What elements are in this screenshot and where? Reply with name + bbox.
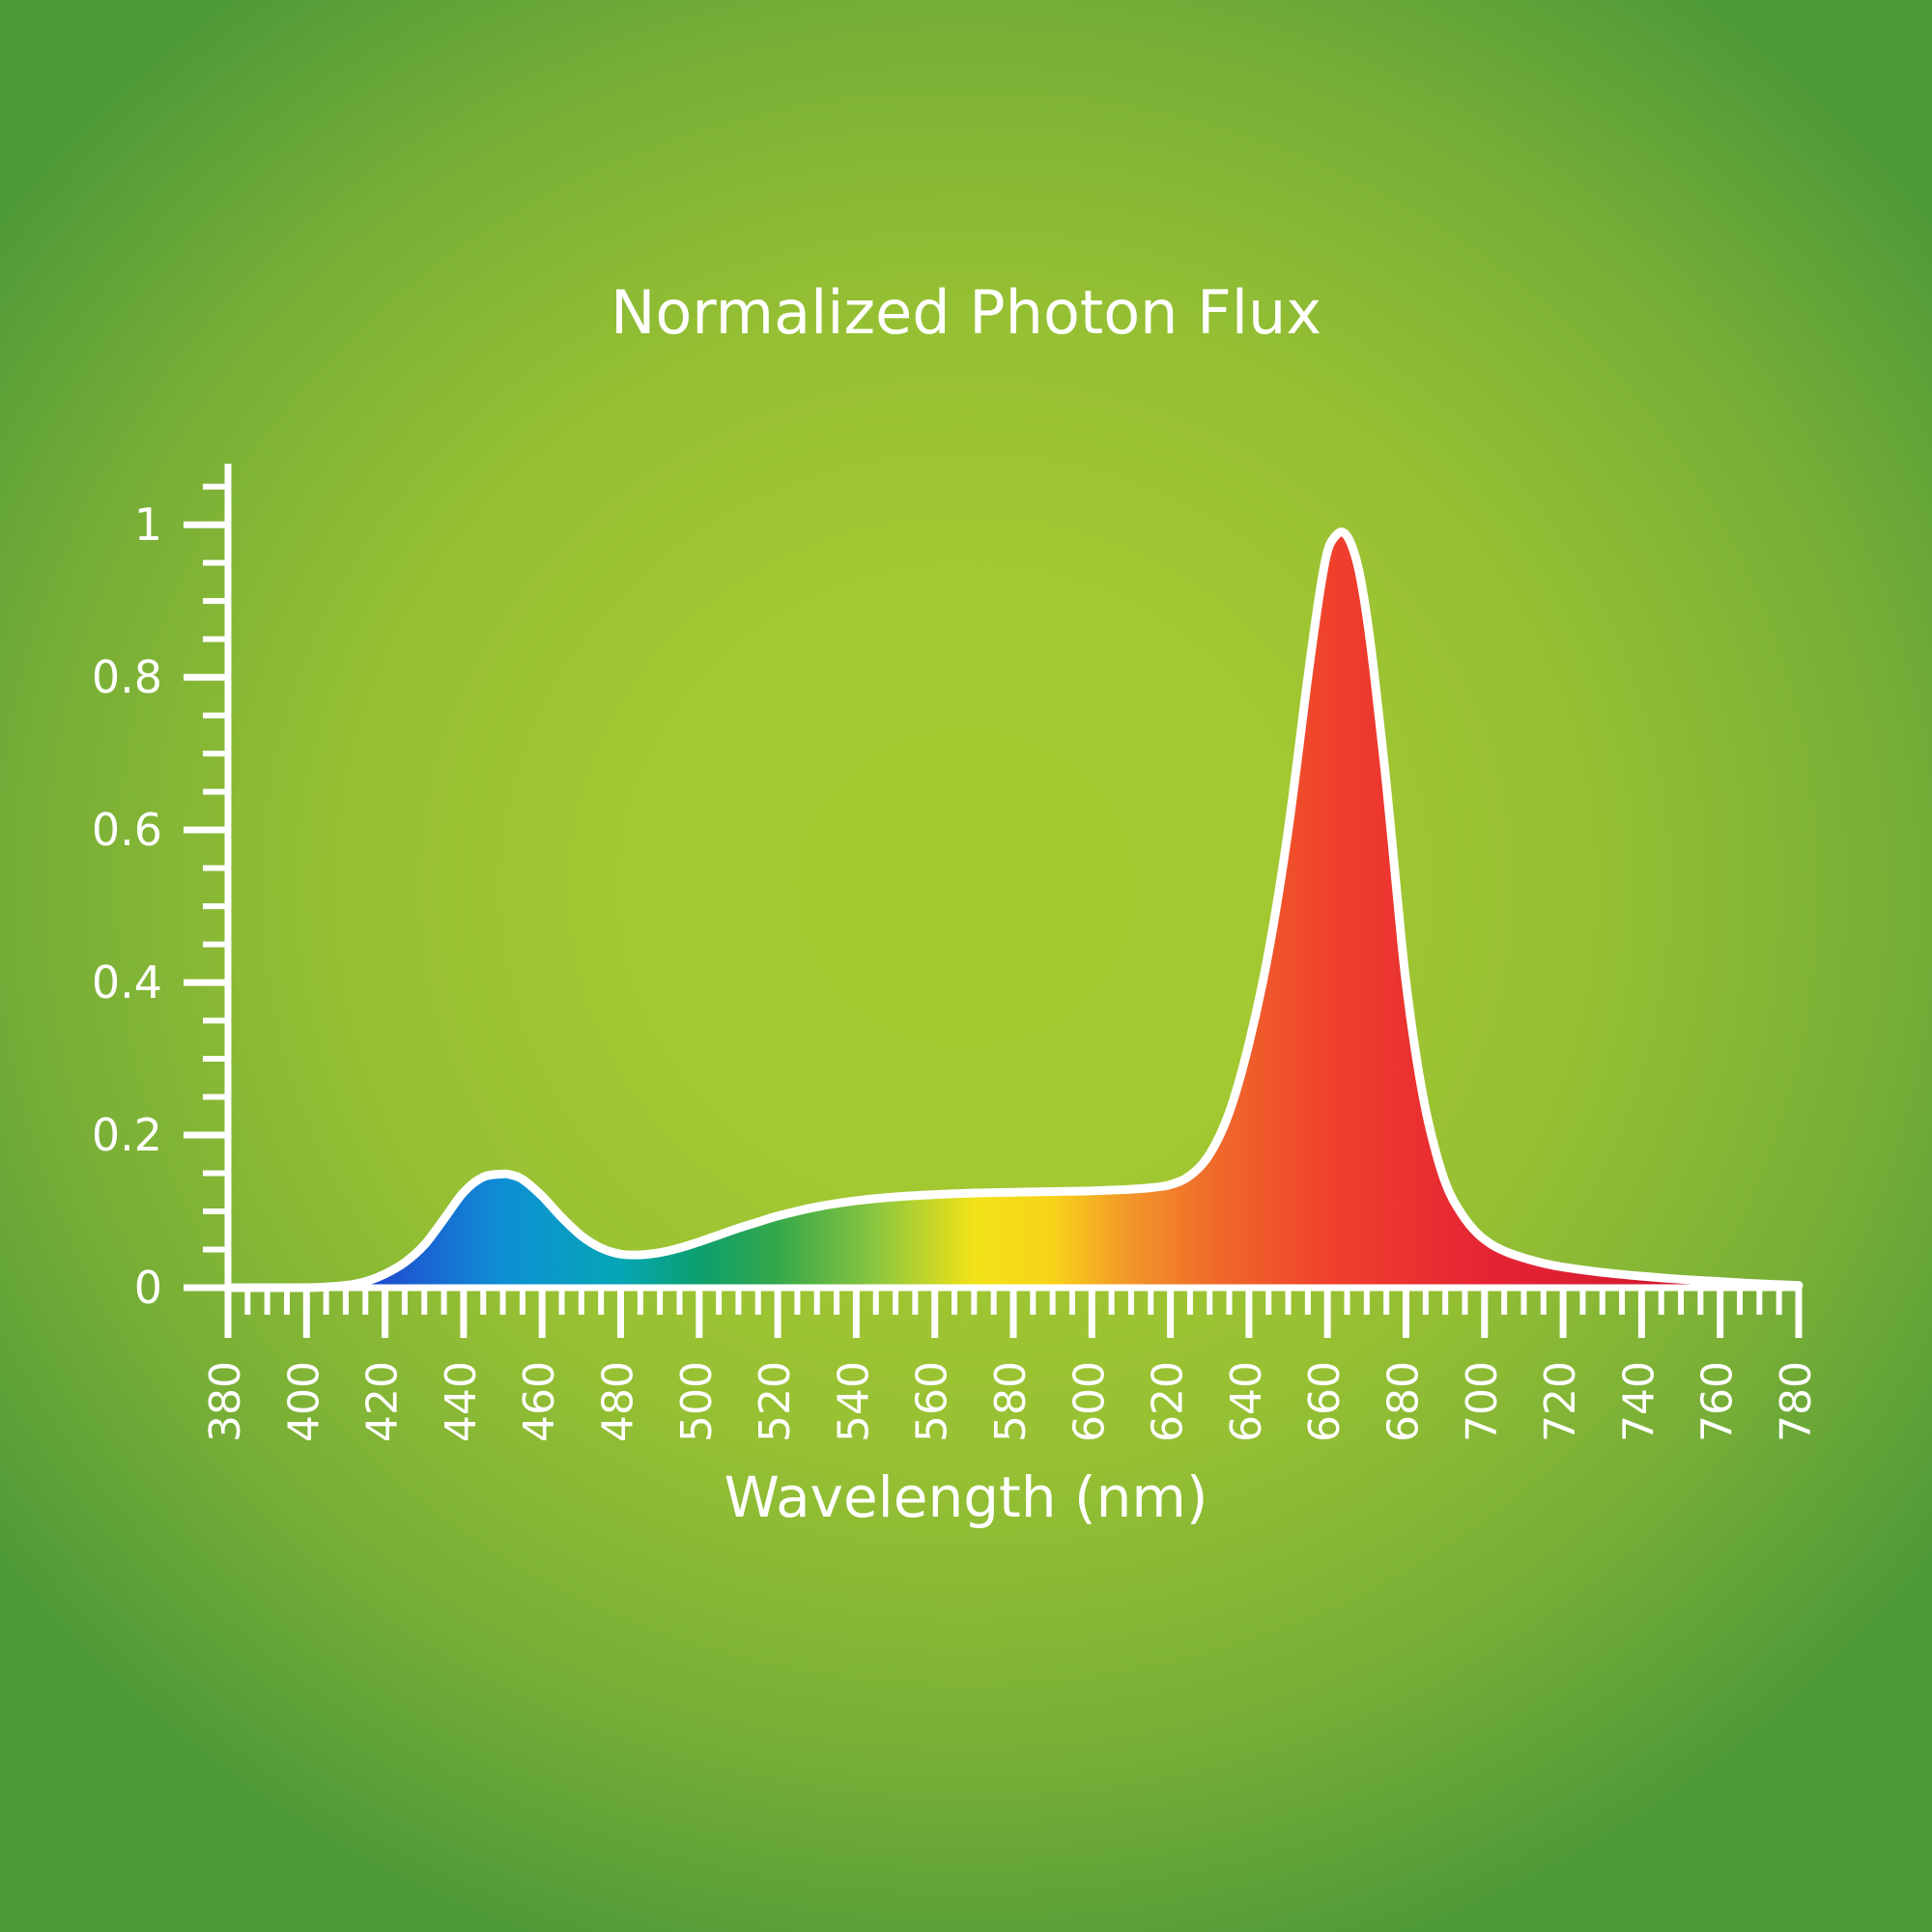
y-tick-label: 0.4 (92, 956, 162, 1009)
x-tick-label: 720 (1536, 1361, 1585, 1442)
x-tick-label: 680 (1379, 1361, 1429, 1442)
x-tick-label: 440 (437, 1361, 486, 1442)
x-tick-label: 520 (751, 1361, 800, 1442)
x-tick-label: 760 (1693, 1361, 1743, 1442)
y-axis (184, 464, 228, 1288)
chart-canvas: 00.20.40.60.81 3804004204404604805005205… (0, 0, 1932, 1932)
x-tick-label: 740 (1614, 1361, 1663, 1442)
x-tick-label: 620 (1144, 1361, 1193, 1442)
spectrum-fill (228, 532, 1799, 1288)
y-tick-label-group: 00.20.40.60.81 (92, 498, 162, 1314)
x-tick-label: 580 (986, 1361, 1036, 1442)
x-axis (228, 1288, 1799, 1338)
x-tick-label: 400 (279, 1361, 328, 1442)
x-tick-label-group: 3804004204404604805005205405605806006206… (201, 1361, 1821, 1442)
y-tick-label: 0.6 (92, 804, 162, 856)
y-tick-label: 0.2 (92, 1109, 162, 1161)
x-tick-label: 380 (201, 1361, 250, 1442)
spectral-chart-figure: 00.20.40.60.81 3804004204404604805005205… (0, 0, 1932, 1932)
y-tick-label: 0.8 (92, 651, 162, 703)
y-tick-label: 1 (134, 498, 162, 551)
chart-title: Normalized Photon Flux (611, 277, 1321, 348)
x-tick-label: 640 (1222, 1361, 1271, 1442)
x-tick-label: 460 (515, 1361, 564, 1442)
x-tick-label: 500 (672, 1361, 722, 1442)
x-tick-label: 540 (829, 1361, 878, 1442)
x-tick-label: 780 (1772, 1361, 1821, 1442)
x-axis-title: Wavelength (nm) (724, 1464, 1207, 1530)
spectrum-curve-outline (228, 532, 1799, 1288)
x-tick-label: 420 (358, 1361, 408, 1442)
x-tick-label: 700 (1458, 1361, 1507, 1442)
x-tick-label: 560 (908, 1361, 957, 1442)
y-tick-label: 0 (134, 1262, 162, 1314)
x-tick-label: 600 (1065, 1361, 1114, 1442)
x-tick-label: 660 (1300, 1361, 1350, 1442)
x-tick-label: 480 (594, 1361, 643, 1442)
spectrum-area (228, 532, 1799, 1288)
